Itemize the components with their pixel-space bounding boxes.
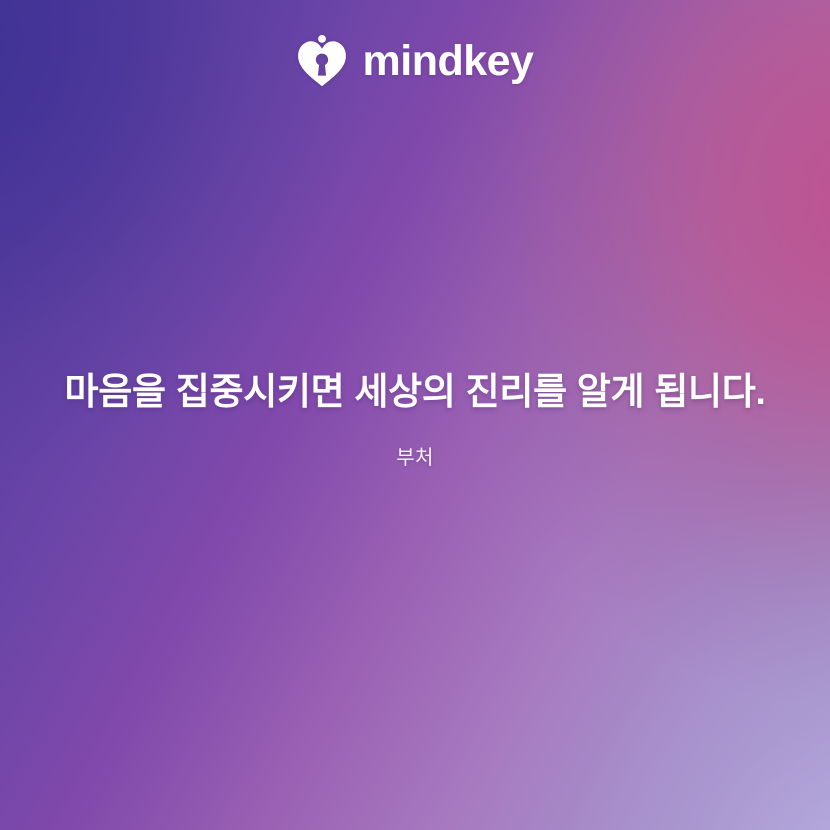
quote-card: mindkey 마음을 집중시키면 세상의 진리를 알게 됩니다. 부처: [0, 0, 830, 830]
quote-text: 마음을 집중시키면 세상의 진리를 알게 됩니다.: [40, 368, 790, 417]
brand-wordmark: mindkey: [363, 40, 534, 83]
quote-author: 부처: [40, 441, 790, 470]
brand-header: mindkey: [0, 0, 830, 118]
logo-lockup[interactable]: mindkey: [297, 35, 534, 87]
quote-block: 마음을 집중시키면 세상의 진리를 알게 됩니다. 부처: [0, 368, 830, 470]
heart-keyhole-icon: [297, 35, 347, 87]
